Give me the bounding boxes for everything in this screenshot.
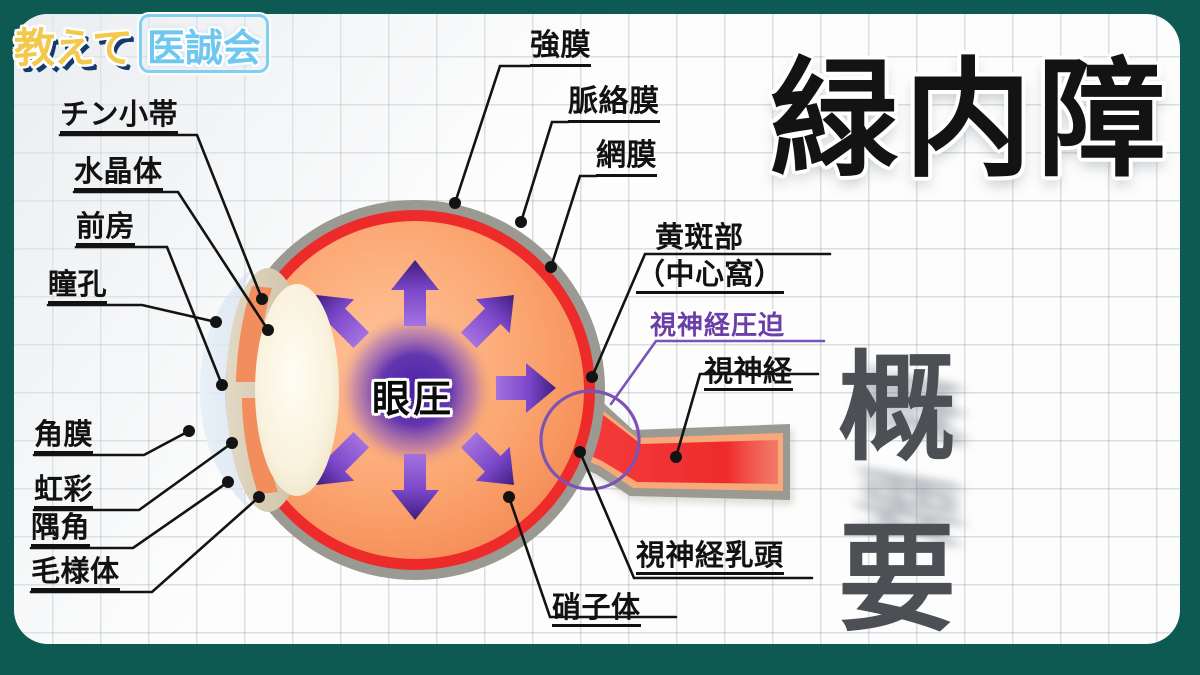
page-subtitle: 概要 <box>838 312 964 654</box>
logo-text-oshiete: 教えて <box>14 14 132 74</box>
label-fovea: （中心窩） <box>636 259 784 294</box>
iop-label: 眼圧 <box>372 368 454 423</box>
label-optic-nerve: 視神経 <box>704 356 793 391</box>
label-macula: 黄斑部 <box>655 222 744 252</box>
label-zonule: チン小帯 <box>60 99 178 134</box>
slide-root: 教えて 医誠会 緑内障 概要 概要 眼圧 強膜 脈絡膜 網膜 チン小帯 水晶体 … <box>0 0 1200 675</box>
label-iris: 虹彩 <box>34 474 93 509</box>
label-optic-nerve-compression: 視神経圧迫 <box>650 305 785 342</box>
label-ciliary-body: 毛様体 <box>31 556 120 591</box>
label-lens: 水晶体 <box>74 156 163 191</box>
label-angle: 隅角 <box>31 512 90 547</box>
label-choroid: 脈絡膜 <box>568 86 660 123</box>
page-title: 緑内障 <box>770 16 1172 201</box>
label-vitreous-body: 硝子体 <box>552 592 641 627</box>
logo-text-iseikai: 医誠会 <box>140 16 268 73</box>
label-cornea: 角膜 <box>34 419 93 454</box>
label-sclera: 強膜 <box>530 30 591 67</box>
label-retina: 網膜 <box>596 140 657 177</box>
label-pupil: 瞳孔 <box>48 269 107 304</box>
label-optic-disc: 視神経乳頭 <box>636 540 784 575</box>
label-anterior-chamber: 前房 <box>76 211 135 246</box>
brand-logo: 教えて 医誠会 <box>14 14 268 74</box>
